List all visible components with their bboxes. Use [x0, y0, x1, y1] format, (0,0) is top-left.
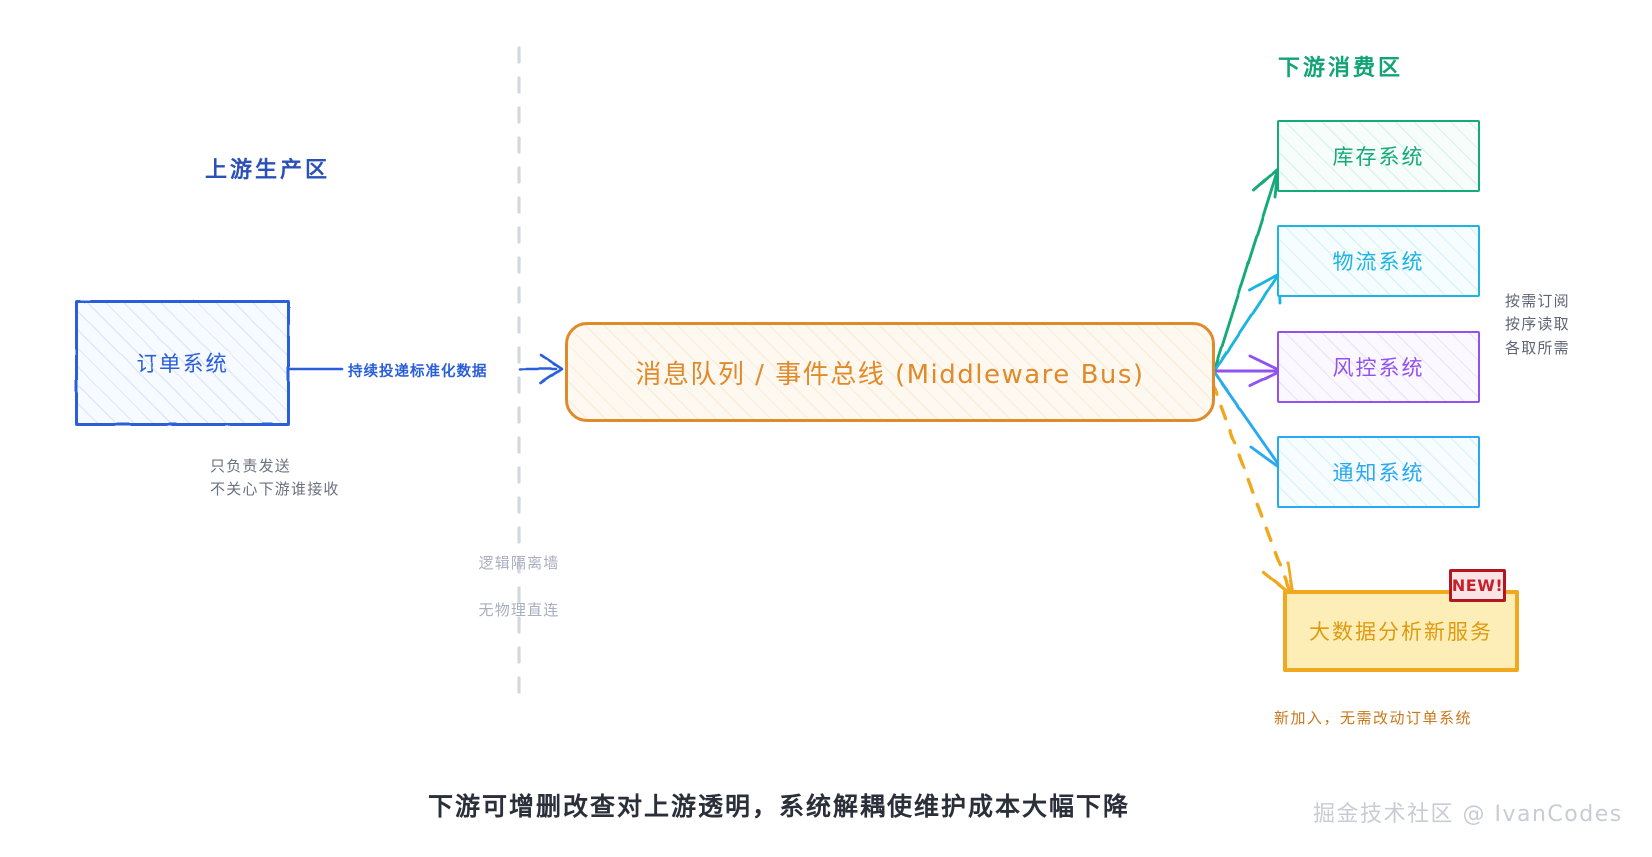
footer-caption: 下游可增删改查对上游透明，系统解耦使维护成本大幅下降: [428, 787, 1130, 823]
annotation-consumer-note: 按需订阅 按序读取 各取所需: [1505, 290, 1570, 360]
edge-bus-to-inventory: [1214, 169, 1278, 372]
edge-bus-to-riskcontrol: [1214, 356, 1281, 386]
new-badge: NEW!: [1449, 569, 1506, 602]
diagram-canvas: 上游生产区 下游消费区 订单系统 持续投递标准化数据 只负责发送 不关心下游谁接…: [0, 0, 1652, 857]
node-logistics-system-label: 物流系统: [1333, 246, 1425, 276]
node-bigdata-service-label: 大数据分析新服务: [1309, 616, 1493, 646]
isolation-note-line2: 无物理直连: [478, 601, 559, 619]
node-notification-system-label: 通知系统: [1333, 457, 1425, 487]
node-inventory-system[interactable]: 库存系统: [1277, 120, 1480, 192]
edge-bus-to-logistics: [1214, 274, 1280, 372]
edge-bus-to-notification: [1214, 372, 1284, 471]
node-message-bus[interactable]: 消息队列 / 事件总线 (Middleware Bus): [565, 322, 1215, 422]
isolation-note-line1: 逻辑隔离墙: [478, 554, 559, 572]
node-inventory-system-label: 库存系统: [1333, 141, 1425, 171]
annotation-isolation-wall: 逻辑隔离墙 无物理直连: [478, 552, 559, 622]
annotation-order-note: 只负责发送 不关心下游谁接收: [210, 455, 340, 502]
node-message-bus-label: 消息队列 / 事件总线 (Middleware Bus): [635, 354, 1144, 391]
node-notification-system[interactable]: 通知系统: [1277, 436, 1480, 508]
watermark: 掘金技术社区 @ IvanCodes: [1313, 796, 1623, 828]
node-riskcontrol-system[interactable]: 风控系统: [1277, 331, 1480, 403]
annotation-bigdata-note: 新加入，无需改动订单系统: [1274, 707, 1472, 730]
node-order-system-label: 订单系统: [137, 348, 229, 378]
node-logistics-system[interactable]: 物流系统: [1277, 225, 1480, 297]
new-badge-label: NEW!: [1452, 576, 1503, 595]
zone-title-downstream: 下游消费区: [1278, 50, 1403, 82]
node-bigdata-service[interactable]: 大数据分析新服务: [1283, 590, 1519, 672]
zone-title-upstream: 上游生产区: [205, 152, 330, 184]
edge-label-order-to-bus: 持续投递标准化数据: [348, 360, 488, 381]
node-riskcontrol-system-label: 风控系统: [1333, 352, 1425, 382]
node-order-system[interactable]: 订单系统: [75, 300, 290, 426]
